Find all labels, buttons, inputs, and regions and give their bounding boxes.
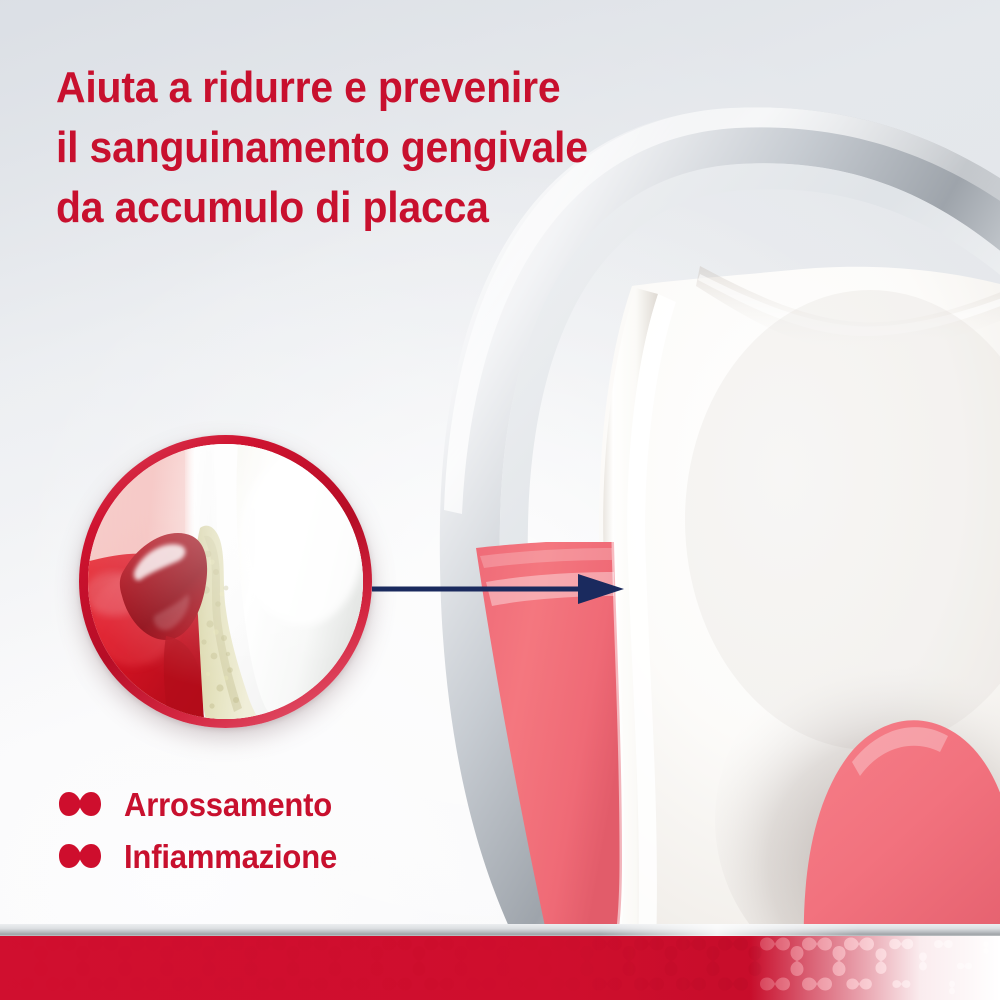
footer-bar-fade [750,936,1000,1000]
list-item-label: Arrossamento [124,788,332,821]
list-item-label: Infiammazione [124,840,337,873]
magnifier-callout [79,435,372,728]
list-item: Infiammazione [58,830,438,882]
dumbbell-bullet-icon [58,791,102,817]
footer-bar [0,936,1000,1000]
benefit-list: Arrossamento Infiammazione [58,778,438,882]
page-title: Aiuta a ridurre e prevenire il sanguinam… [56,58,651,237]
banner-canvas: Aiuta a ridurre e prevenire il sanguinam… [0,0,1000,1000]
magnifier-content [88,444,363,719]
dumbbell-bullet-icon [58,843,102,869]
arrow-right-icon [372,572,634,606]
list-item: Arrossamento [58,778,438,830]
